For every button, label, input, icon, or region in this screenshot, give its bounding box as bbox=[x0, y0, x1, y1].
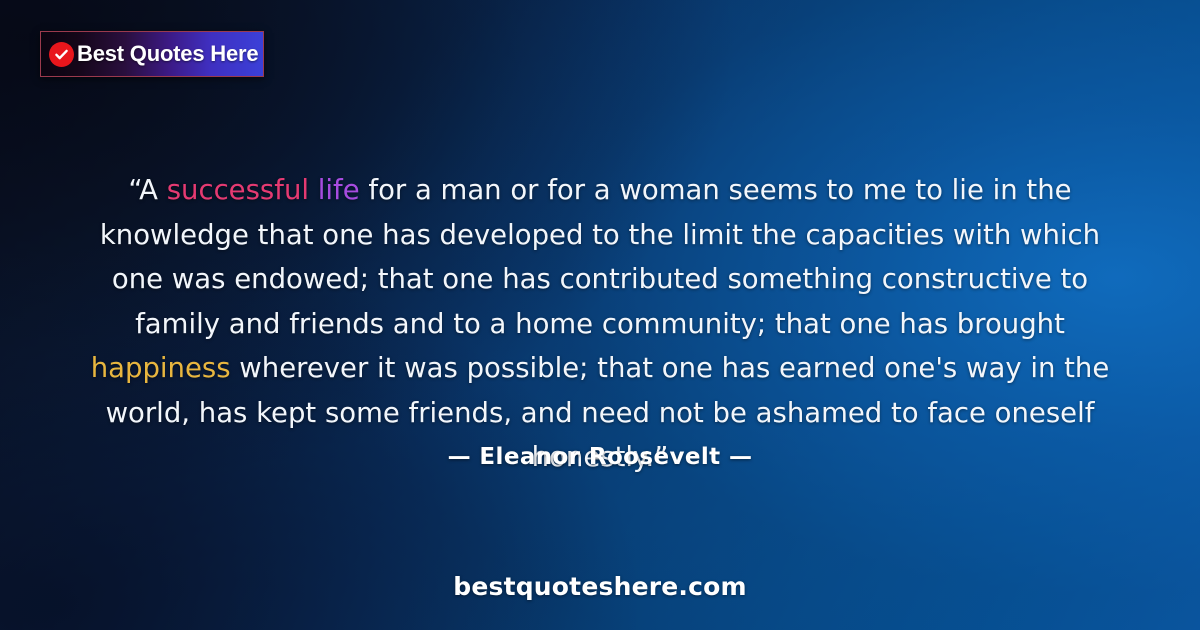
quote-open-segment: “A bbox=[128, 174, 166, 206]
quote-highlight-successful: successful bbox=[167, 174, 309, 206]
check-circle-icon bbox=[49, 42, 74, 67]
brand-logo-badge[interactable]: Best Quotes Here bbox=[40, 31, 264, 77]
quote-space-1 bbox=[309, 174, 318, 206]
quote-card: Best Quotes Here “A successful life for … bbox=[0, 0, 1200, 630]
quote-body: “A successful life for a man or for a wo… bbox=[0, 168, 1200, 480]
footer-website: bestquoteshere.com bbox=[0, 572, 1200, 601]
quote-highlight-happiness: happiness bbox=[91, 352, 231, 384]
brand-logo-label: Best Quotes Here bbox=[77, 41, 258, 67]
quote-author: — Eleanor Roosevelt — bbox=[0, 444, 1200, 470]
quote-text: “A successful life for a man or for a wo… bbox=[80, 168, 1120, 480]
quote-highlight-life: life bbox=[318, 174, 360, 206]
